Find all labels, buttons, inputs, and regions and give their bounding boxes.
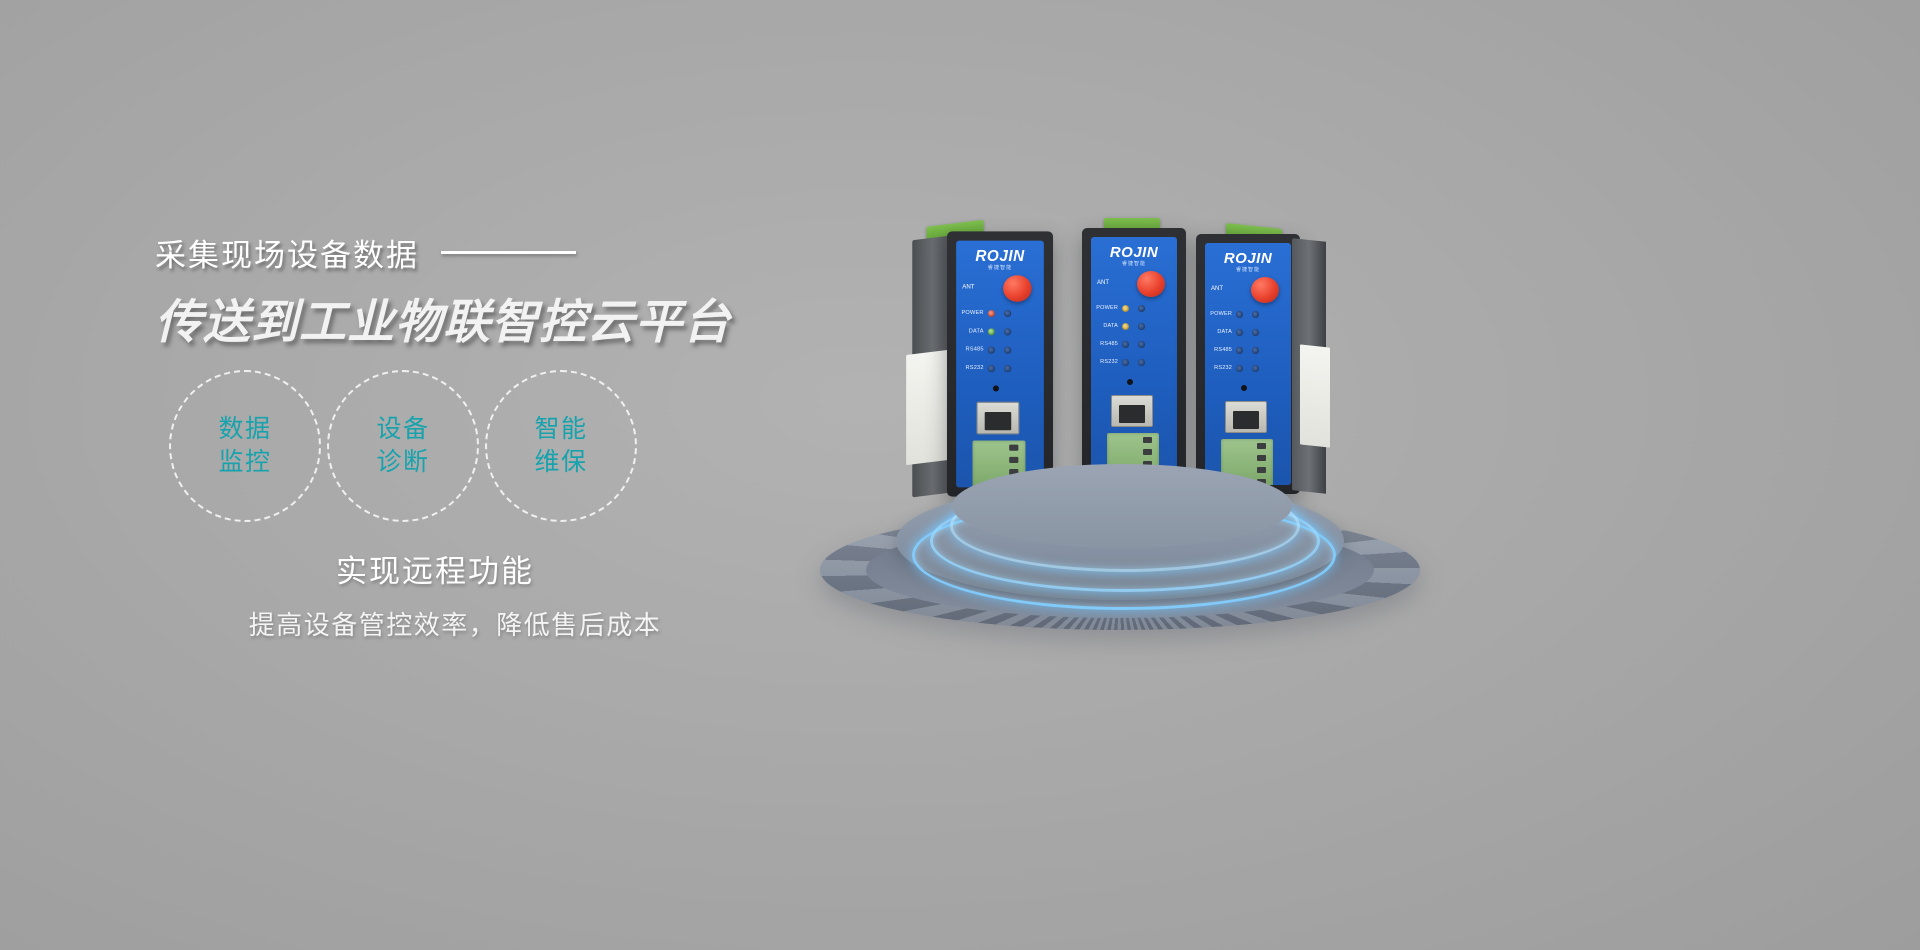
device-front-panel: ROJIN 睿捷智能 ANT POWER DATA: [1205, 243, 1291, 485]
led-indicator: [1004, 328, 1011, 335]
feature-label-line2: 监控: [218, 446, 271, 479]
led-indicator: [1122, 323, 1129, 330]
led-label: POWER: [961, 310, 983, 316]
led-indicator: [1138, 305, 1145, 312]
device-front-frame: ROJIN 睿捷智能 ANT POWER DATA: [1196, 234, 1300, 494]
led-indicator: [988, 309, 995, 316]
product-scene: ROJIN 睿捷智能 ANT POWER DATA: [800, 200, 1500, 650]
brand-sub-logo: 睿捷智能: [956, 264, 1044, 271]
antenna-label: ANT: [962, 284, 974, 290]
product-device-2: ROJIN 睿捷智能 ANT POWER DATA: [1082, 228, 1186, 488]
device-front-panel: ROJIN 睿捷智能 ANT POWER DATA: [1091, 237, 1177, 479]
terminal-screw: [1257, 443, 1266, 449]
text-panel: 采集现场设备数据 传送到工业物联智控云平台 数据 监控 设备 诊断 智能 维保 …: [155, 230, 835, 710]
terminal-screw: [1009, 445, 1018, 451]
antenna-connector-icon: [1137, 271, 1165, 297]
led-row-power: POWER: [1210, 309, 1286, 319]
led-row-rs485: RS485: [1096, 339, 1172, 349]
reset-button[interactable]: [1241, 385, 1247, 391]
led-indicator: [1252, 311, 1259, 318]
led-label: RS232: [1096, 359, 1118, 365]
device-spec-sticker: [1300, 344, 1330, 447]
led-label: POWER: [1210, 311, 1232, 317]
display-pedestal: [820, 470, 1440, 630]
led-indicator: [1236, 329, 1243, 336]
sub-description: 提高设备管控效率，降低售后成本: [155, 605, 755, 642]
brand-sub-logo: 睿捷智能: [1091, 260, 1177, 267]
led-indicator: [1252, 329, 1259, 336]
led-indicator: [1122, 359, 1129, 366]
led-row-data: DATA: [1096, 321, 1172, 331]
brand-logo: ROJIN: [1205, 250, 1291, 267]
led-label: DATA: [961, 328, 983, 334]
led-indicator: [1236, 365, 1243, 372]
eyebrow-row: 采集现场设备数据: [155, 230, 835, 274]
led-indicator: [1138, 341, 1145, 348]
antenna-connector-icon: [1003, 275, 1032, 302]
led-label: RS232: [1210, 365, 1232, 371]
brand-sub-logo: 睿捷智能: [1205, 266, 1291, 273]
hero-banner: 采集现场设备数据 传送到工业物联智控云平台 数据 监控 设备 诊断 智能 维保 …: [0, 0, 1920, 950]
led-row-rs485: RS485: [1210, 345, 1286, 355]
led-indicator: [1122, 305, 1129, 312]
led-indicator: [988, 365, 995, 372]
led-label: DATA: [1096, 323, 1118, 329]
antenna-label: ANT: [1211, 286, 1223, 292]
antenna-connector-icon: [1251, 277, 1279, 303]
led-indicator: [1004, 365, 1011, 372]
led-indicator: [988, 346, 995, 353]
feature-circle-row: 数据 监控 设备 诊断 智能 维保: [169, 370, 637, 522]
subheading: 实现远程功能: [155, 546, 715, 591]
led-label: RS485: [961, 347, 983, 353]
feature-label-line2: 诊断: [376, 446, 429, 479]
led-indicator: [1236, 347, 1243, 354]
led-row-data: DATA: [1210, 327, 1286, 337]
led-row-power: POWER: [961, 308, 1039, 318]
eyebrow-divider: [441, 251, 576, 254]
feature-circle-device-diagnosis[interactable]: 设备 诊断: [327, 370, 479, 522]
led-row-data: DATA: [961, 326, 1039, 336]
device-front-frame: ROJIN 睿捷智能 ANT POWER DATA: [947, 231, 1053, 496]
led-row-rs232: RS232: [1210, 363, 1286, 373]
feature-label-line1: 数据: [218, 413, 271, 446]
led-indicator: [1252, 365, 1259, 372]
feature-circle-smart-maintenance[interactable]: 智能 维保: [485, 370, 637, 522]
rj45-port-icon: [1225, 401, 1267, 433]
device-front-panel: ROJIN 睿捷智能 ANT POWER DATA: [956, 241, 1044, 488]
led-label: RS485: [1096, 341, 1118, 347]
feature-label-line1: 智能: [534, 413, 587, 446]
led-row-power: POWER: [1096, 303, 1172, 313]
terminal-screw: [1009, 457, 1018, 463]
led-row-rs232: RS232: [961, 363, 1039, 373]
led-label: RS485: [1210, 347, 1232, 353]
page-title: 传送到工业物联智控云平台: [155, 283, 835, 352]
led-indicator: [1236, 311, 1243, 318]
eyebrow-text: 采集现场设备数据: [155, 230, 419, 275]
device-front-frame: ROJIN 睿捷智能 ANT POWER DATA: [1082, 228, 1186, 488]
product-device-3: ROJIN 睿捷智能 ANT POWER DATA: [1196, 234, 1300, 494]
led-label: DATA: [1210, 329, 1232, 335]
reset-button[interactable]: [1127, 379, 1133, 385]
brand-logo: ROJIN: [956, 248, 1044, 265]
rj45-port-icon: [977, 402, 1020, 435]
led-indicator: [1122, 341, 1129, 348]
rj45-port-icon: [1111, 395, 1153, 427]
pedestal-top-surface: [952, 464, 1292, 548]
product-device-1: ROJIN 睿捷智能 ANT POWER DATA: [947, 231, 1053, 496]
feature-label-line2: 维保: [534, 446, 587, 479]
led-indicator: [1138, 359, 1145, 366]
brand-logo: ROJIN: [1091, 244, 1177, 261]
terminal-screw: [1143, 437, 1152, 443]
feature-circle-data-monitoring[interactable]: 数据 监控: [169, 370, 321, 522]
led-indicator: [1138, 323, 1145, 330]
led-indicator: [1004, 309, 1011, 316]
led-row-rs232: RS232: [1096, 357, 1172, 367]
feature-label-line1: 设备: [376, 413, 429, 446]
led-indicator: [1004, 346, 1011, 353]
led-label: RS232: [961, 365, 983, 371]
terminal-screw: [1257, 455, 1266, 461]
led-row-rs485: RS485: [961, 345, 1039, 355]
terminal-screw: [1143, 449, 1152, 455]
reset-button[interactable]: [993, 385, 999, 391]
antenna-label: ANT: [1097, 280, 1109, 286]
led-label: POWER: [1096, 305, 1118, 311]
led-indicator: [988, 328, 995, 335]
led-indicator: [1252, 347, 1259, 354]
